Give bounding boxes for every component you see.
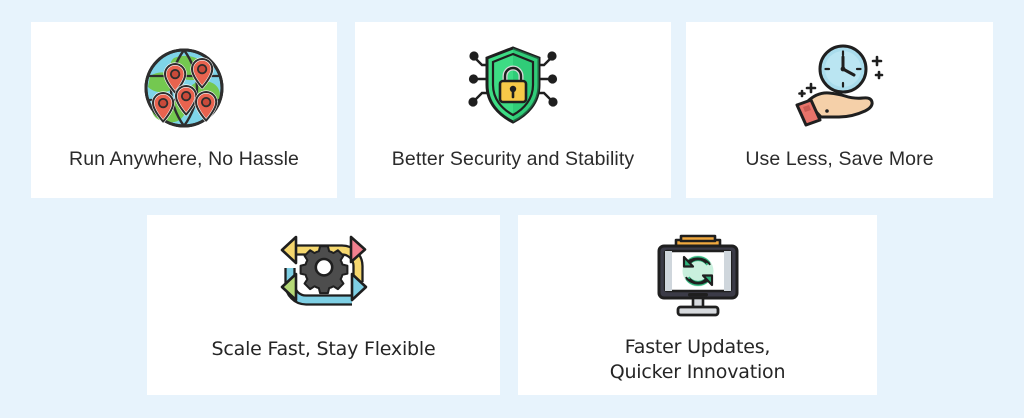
feature-cards-grid: Run Anywhere, No Hassle <box>0 0 1024 418</box>
feature-card-label: Run Anywhere, No Hassle <box>69 147 299 172</box>
feature-card-run-anywhere[interactable]: Run Anywhere, No Hassle <box>31 22 337 198</box>
feature-card-faster-updates[interactable]: Faster Updates, Quicker Innovation <box>518 215 877 395</box>
feature-card-use-less-save-more[interactable]: Use Less, Save More <box>686 22 993 198</box>
feature-card-label: Scale Fast, Stay Flexible <box>212 337 436 362</box>
feature-card-scale-fast[interactable]: Scale Fast, Stay Flexible <box>147 215 500 395</box>
shield-lock-circuit-icon <box>465 39 561 131</box>
feature-card-label: Better Security and Stability <box>392 147 634 172</box>
feature-card-label: Faster Updates, Quicker Innovation <box>610 335 786 386</box>
feature-card-better-security[interactable]: Better Security and Stability <box>355 22 671 198</box>
hand-holding-clock-icon <box>789 39 891 131</box>
gear-cycle-arrows-icon <box>274 232 374 318</box>
feature-cards-page: Run Anywhere, No Hassle <box>0 0 1024 418</box>
globe-location-pins-icon <box>138 42 230 134</box>
feature-card-label: Use Less, Save More <box>745 147 933 172</box>
monitor-refresh-icon <box>648 233 748 319</box>
